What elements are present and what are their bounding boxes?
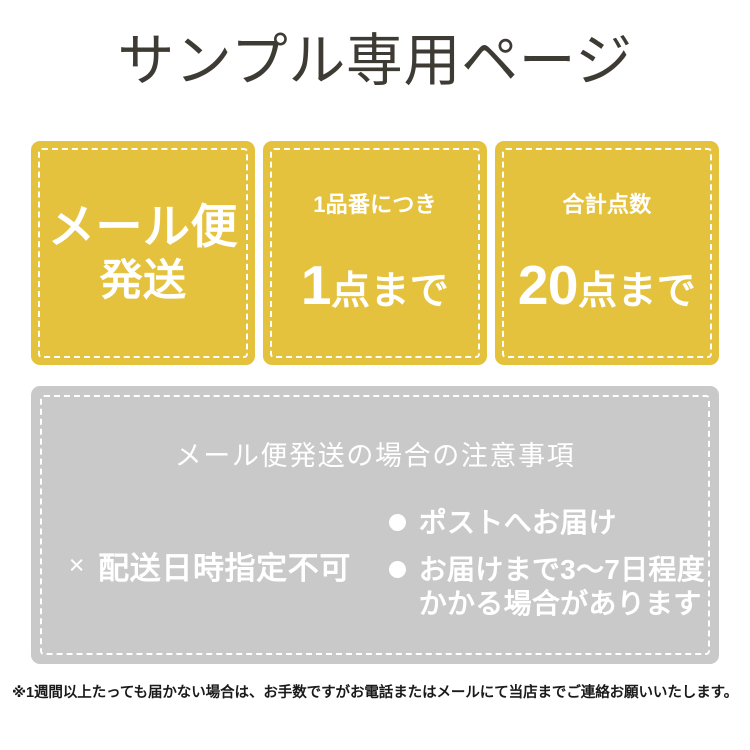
bullet-dot-icon (389, 561, 406, 578)
restriction-item-no-date-time: × 配送日時指定不可 (69, 543, 351, 588)
card-per-item-limit-content: 1品番につき 1 点まで (263, 194, 487, 313)
shipping-method-line-1: メール便 (31, 198, 255, 255)
per-item-limit-value-line: 1 点まで (263, 258, 487, 313)
per-item-limit-unit: 点まで (331, 272, 449, 311)
footnote-text: ※1週間以上たっても届かない場合は、お手数ですがお電話またはメールにて当店までご… (0, 685, 750, 702)
per-item-limit-number: 1 (301, 258, 331, 313)
total-item-limit-number: 20 (518, 258, 578, 313)
list-item: お届けまで3〜7日程度 かかる場合があります (389, 553, 713, 621)
cross-mark-icon: × (69, 552, 85, 579)
notice-panel: メール便発送の場合の注意事項 × 配送日時指定不可 ポストへお届け お届けまで3… (31, 386, 719, 664)
bullet-text-delivery-to-post: ポストへお届け (419, 506, 617, 540)
restriction-label: 配送日時指定不可 (98, 543, 351, 588)
list-item: ポストへお届け (389, 506, 713, 540)
notice-panel-body: × 配送日時指定不可 ポストへお届け お届けまで3〜7日程度 かかる場合がありま… (31, 506, 719, 646)
notice-restriction-group: × 配送日時指定不可 (31, 506, 389, 616)
card-total-item-limit: 合計点数 20 点まで (495, 141, 719, 365)
per-item-limit-caption: 1品番につき (263, 194, 487, 216)
card-per-item-limit: 1品番につき 1 点まで (263, 141, 487, 365)
card-total-item-limit-content: 合計点数 20 点まで (495, 194, 719, 313)
notice-panel-title: メール便発送の場合の注意事項 (31, 434, 719, 473)
card-shipping-method: メール便 発送 (31, 141, 255, 365)
bullet-text-delivery-time: お届けまで3〜7日程度 かかる場合があります (419, 553, 705, 621)
card-shipping-method-content: メール便 発送 (31, 198, 255, 308)
shipping-method-line-2: 発送 (31, 255, 255, 307)
total-item-limit-unit: 点まで (578, 272, 696, 311)
bullet-dot-icon (389, 514, 406, 531)
total-item-limit-caption: 合計点数 (495, 194, 719, 216)
info-card-row: メール便 発送 1品番につき 1 点まで 合計点数 20 点まで (31, 141, 719, 365)
page-title: サンプル専用ページ (0, 33, 750, 90)
notice-bullet-list: ポストへお届け お届けまで3〜7日程度 かかる場合があります (389, 506, 719, 634)
total-item-limit-value-line: 20 点まで (495, 258, 719, 313)
